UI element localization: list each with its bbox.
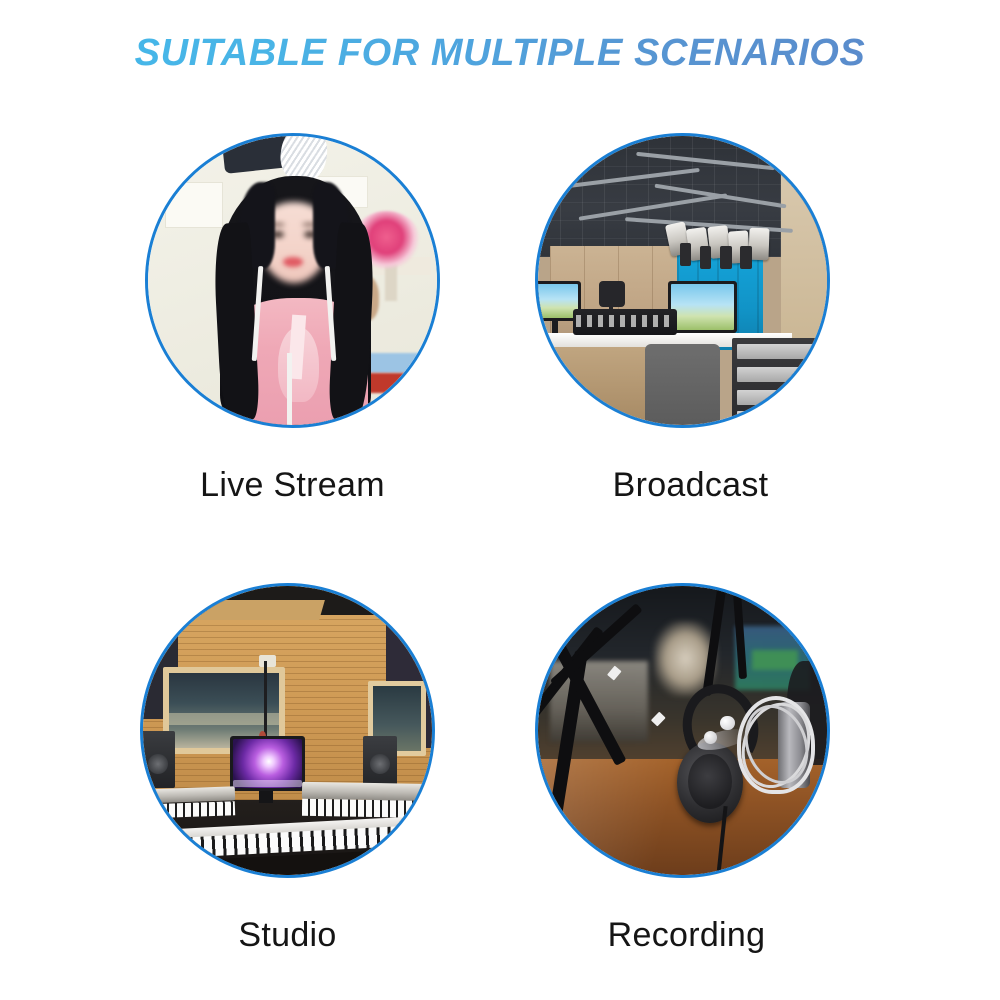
rack-unit [737,367,812,381]
infographic-page: SUITABLE FOR MULTIPLE SCENARIOS [0,0,1000,1000]
scenario-circle-frame [535,133,830,428]
scenario-circle-frame [535,583,830,878]
scenario-circle-frame [145,133,440,428]
wall-panel-left [165,182,223,228]
spotlight-barndoor [740,246,752,269]
background-green-light [752,650,798,670]
headphone-ear-pad [688,754,731,809]
scenario-label-broadcast: Broadcast [543,466,838,505]
broadcast-photo [538,136,827,425]
spotlight-barndoor [720,246,732,269]
window-reflection-band [169,713,279,725]
synth-keyboard-right [302,781,432,801]
scenario-circle-frame [140,583,435,878]
screen-dock-bar [233,780,302,787]
shock-mount-knob [704,731,717,744]
spotlight-barndoor [680,243,692,266]
rack-unit [737,411,812,425]
right-wall-panel [781,171,827,344]
spotlight-barndoor [700,246,712,269]
speaker-cone-left [148,754,168,774]
scenario-card-studio[interactable]: Studio [140,583,450,955]
shock-mount-knob [720,716,734,730]
synth-keys-right [302,799,432,819]
rack-unit [737,390,812,404]
floor-light-head [599,281,625,307]
recording-photo [538,586,827,875]
rack-unit [737,344,812,358]
monitor-stand-left [552,321,558,333]
speaker-cone-right [370,754,390,774]
live-stream-photo [148,136,437,425]
console-controls [576,315,674,327]
studio-chair [645,344,720,425]
scenario-label-live-stream: Live Stream [145,466,440,505]
monitor-right [668,281,737,333]
ceiling-beam [192,600,325,620]
scenario-grid: Live Stream [0,0,1000,1000]
display-stand [259,791,273,803]
earphone-cable-joined [287,353,292,425]
scenario-label-studio: Studio [140,916,435,955]
scenario-card-broadcast[interactable]: Broadcast [535,133,845,505]
scenario-card-recording[interactable]: Recording [535,583,845,955]
studio-photo [143,586,432,875]
monitor-screen [671,284,734,330]
scenario-label-recording: Recording [539,916,834,955]
scenario-card-live-stream[interactable]: Live Stream [145,133,455,505]
wall-mount-box [259,655,276,667]
